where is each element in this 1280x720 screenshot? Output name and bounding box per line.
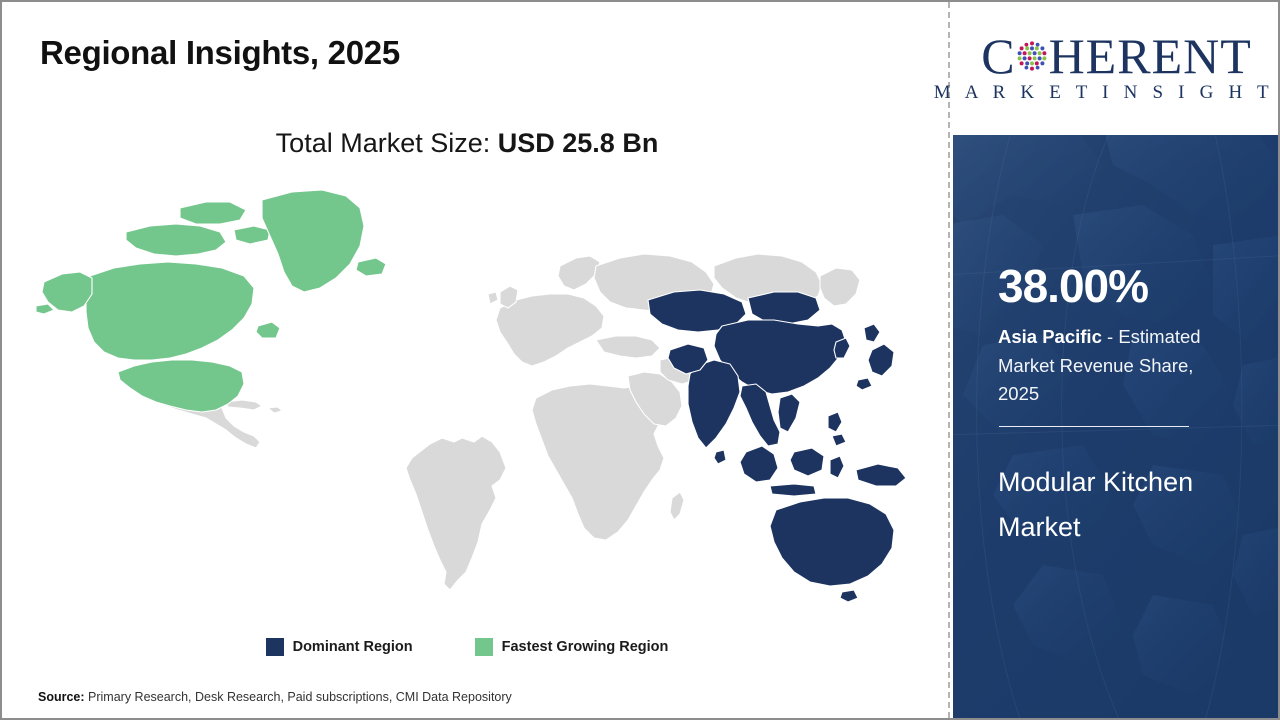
market-name: Modular Kitchen Market <box>998 460 1248 549</box>
legend-label-fastest-growing: Fastest Growing Region <box>502 639 669 655</box>
source-text: Primary Research, Desk Research, Paid su… <box>85 690 512 704</box>
source-label: Source: <box>38 690 85 704</box>
logo-wordmark-text: HERENT <box>1049 31 1252 81</box>
total-market-size: Total Market Size: USD 25.8 Bn <box>2 128 932 159</box>
legend-item-fastest-growing: Fastest Growing Region <box>475 638 669 656</box>
map-legend: Dominant Region Fastest Growing Region <box>2 638 932 656</box>
stat-divider-rule <box>999 426 1189 427</box>
left-content-panel: Regional Insights, 2025 Total Market Siz… <box>2 2 950 718</box>
logo-wordmark: C <box>981 33 1252 79</box>
source-note: Source: Primary Research, Desk Research,… <box>38 690 512 704</box>
panel-divider <box>948 2 950 718</box>
stat-description: Asia Pacific - Estimated Market Revenue … <box>998 323 1234 409</box>
stat-region-name: Asia Pacific <box>998 326 1102 347</box>
square-swatch-icon <box>475 638 493 656</box>
stat-percent-value: 38.00% <box>998 263 1148 309</box>
page-title: Regional Insights, 2025 <box>40 34 400 72</box>
globe-dots-icon <box>1016 40 1048 72</box>
world-map-svg <box>30 180 910 620</box>
stat-panel-content: 38.00% Asia Pacific - Estimated Market R… <box>998 135 1243 718</box>
legend-label-dominant: Dominant Region <box>293 639 413 655</box>
square-swatch-icon <box>266 638 284 656</box>
world-map <box>30 180 910 620</box>
map-region-fastest-growing <box>36 190 386 412</box>
logo-tagline: M A R K E T I N S I G H T S <box>934 82 1280 104</box>
total-market-size-label: Total Market Size: <box>276 128 491 158</box>
legend-item-dominant: Dominant Region <box>266 638 413 656</box>
brand-logo: C <box>953 2 1280 135</box>
regional-insights-infographic: Regional Insights, 2025 Total Market Siz… <box>0 0 1280 720</box>
stat-panel: 38.00% Asia Pacific - Estimated Market R… <box>953 135 1280 718</box>
logo-letter-c: C <box>981 31 1015 81</box>
total-market-size-value: USD 25.8 Bn <box>498 128 659 158</box>
map-region-dominant <box>648 290 910 602</box>
